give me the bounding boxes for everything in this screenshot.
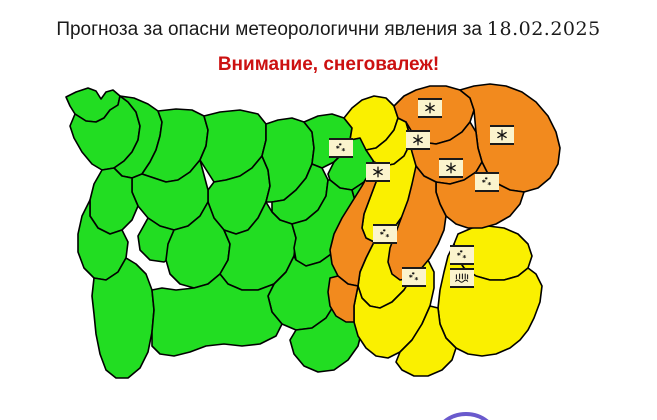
icon-light-snow-1[interactable] (329, 138, 353, 158)
light-snow-icon (479, 175, 495, 189)
title-text: Прогноза за опасни метеорологични явлени… (56, 19, 482, 40)
heavy-snow-icon (443, 161, 459, 175)
heavy-snow-icon (422, 101, 438, 115)
logo-outer-ring (432, 414, 500, 420)
light-snow-icon (333, 141, 349, 155)
forecast-date: 18.02.2025 (487, 18, 601, 40)
icon-heavy-snow-5[interactable] (366, 162, 390, 182)
region-pernik[interactable] (90, 168, 138, 234)
wind-wave-icon (454, 271, 470, 285)
light-snow-icon (377, 227, 393, 241)
icon-heavy-snow-3[interactable] (406, 130, 430, 150)
icon-heavy-snow-6[interactable] (439, 158, 463, 178)
forecast-page: Прогноза за опасни метеорологични явлени… (0, 0, 657, 420)
page-title: Прогноза за опасни метеорологични явлени… (0, 18, 657, 41)
light-snow-icon (454, 248, 470, 262)
icon-light-snow-7[interactable] (475, 172, 499, 192)
heavy-snow-icon (410, 133, 426, 147)
heavy-snow-icon (370, 165, 386, 179)
heavy-snow-icon (494, 128, 510, 142)
bulgaria-warning-map[interactable]: N 1890 (0, 78, 657, 420)
light-snow-icon (406, 270, 422, 284)
icon-light-snow-9[interactable] (450, 245, 474, 265)
icon-heavy-snow-2[interactable] (418, 98, 442, 118)
icon-light-snow-8[interactable] (373, 224, 397, 244)
icon-heavy-snow-4[interactable] (490, 125, 514, 145)
warning-headline: Внимание, снеговалеж! (0, 54, 657, 76)
icon-light-snow-10[interactable] (402, 267, 426, 287)
icon-wind-wave-11[interactable] (450, 268, 474, 288)
institute-logo[interactable]: N 1890 (429, 411, 503, 420)
